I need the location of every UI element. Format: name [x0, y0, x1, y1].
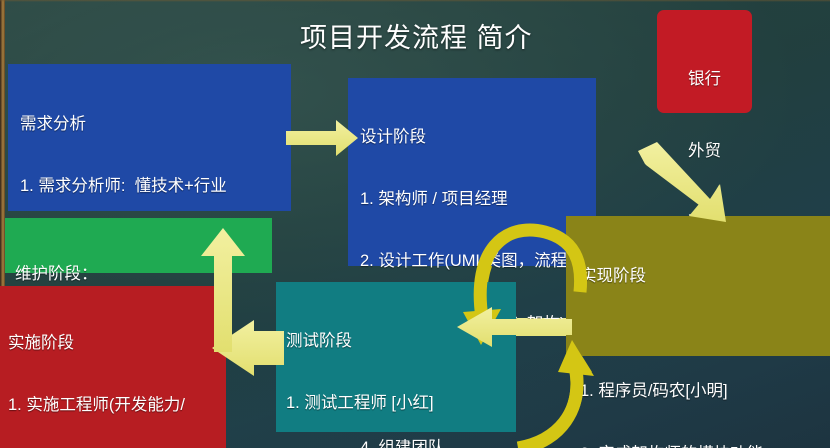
box-implement-line-2: 2. 完成架构师的模块功能	[580, 444, 822, 448]
box-requirement-analysis[interactable]: 需求分析 1. 需求分析师: 懂技术+行业 2. 出一个需求分析报告(白皮 书)…	[8, 64, 291, 211]
box-requirement-line-1: 1. 需求分析师: 懂技术+行业	[20, 176, 281, 197]
box-bank-line-2: 外贸	[657, 140, 752, 164]
box-implementation-stage[interactable]: 实现阶段 1. 程序员/码农[小明] 2. 完成架构师的模块功能 3. 测试自己…	[566, 216, 830, 356]
box-deploy-title: 实施阶段	[8, 333, 220, 354]
box-deploy-line-1: 1. 实施工程师(开发能力/	[8, 395, 220, 416]
box-testing-stage[interactable]: 测试阶段 1. 测试工程师 [小红] 2. 单元测试，测试用例, 白盒测试，黑盒…	[276, 282, 516, 432]
box-industry-domains[interactable]: 银行 外贸 税务	[657, 10, 752, 113]
box-deployment-stage[interactable]: 实施阶段 1. 实施工程师(开发能力/ 环境配置部署能力) 2. 项目正确的部署…	[0, 286, 226, 448]
box-implement-title: 实现阶段	[580, 266, 822, 287]
box-bank-line-1: 银行	[657, 68, 752, 92]
page-title: 项目开发流程 简介	[300, 16, 600, 55]
box-implement-spacer	[580, 328, 822, 340]
box-requirement-title: 需求分析	[20, 114, 281, 135]
box-test-title: 测试阶段	[286, 331, 510, 352]
box-test-line-1: 1. 测试工程师 [小红]	[286, 393, 510, 414]
box-implement-line-1: 1. 程序员/码农[小明]	[580, 381, 822, 402]
chalkboard-frame-top	[0, 0, 830, 2]
box-design-line-1: 1. 架构师 / 项目经理	[360, 189, 588, 210]
box-design-line-2: 2. 设计工作(UML类图，流程	[360, 251, 588, 272]
box-maintenance-stage[interactable]: 维护阶段： 发现bug解决/项目升级	[5, 218, 272, 273]
box-design-stage[interactable]: 设计阶段 1. 架构师 / 项目经理 2. 设计工作(UML类图，流程 图, 模…	[348, 78, 596, 266]
arrow-requirement-to-design	[288, 121, 356, 155]
box-maintain-title: 维护阶段：	[15, 264, 264, 285]
slide-canvas: 项目开发流程 简介	[0, 0, 830, 448]
box-design-title: 设计阶段	[360, 127, 588, 148]
